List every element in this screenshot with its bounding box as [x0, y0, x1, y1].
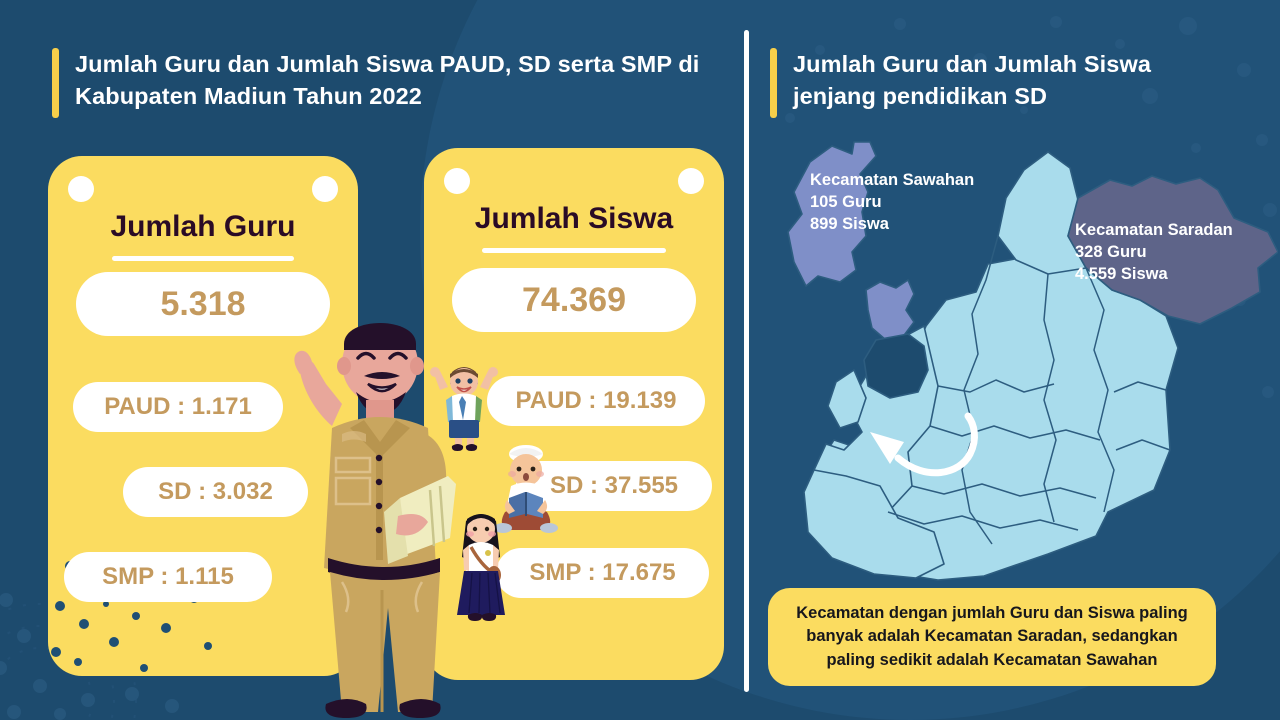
map-caption: Kecamatan dengan jumlah Guru dan Siswa p…	[768, 588, 1216, 686]
card-punch-hole-right	[312, 176, 338, 202]
map-label-saradan: Kecamatan Saradan 328 Guru 4.559 Siswa	[1075, 220, 1233, 286]
card-punch-hole-right	[678, 168, 704, 194]
map-label-saradan-teachers: 328 Guru	[1075, 242, 1233, 264]
card-heading: Jumlah Guru	[48, 210, 358, 244]
card-divider	[112, 256, 294, 261]
title-accent-bar	[770, 48, 777, 118]
paud-student-illustration	[428, 360, 500, 452]
map-region-city-enclave	[864, 334, 928, 398]
title-accent-bar	[52, 48, 59, 118]
smp-student-illustration	[448, 505, 514, 625]
card-punch-hole-left	[444, 168, 470, 194]
map-label-sawahan: Kecamatan Sawahan 105 Guru 899 Siswa	[810, 170, 974, 236]
guru-paud-stat: PAUD : 1.171	[73, 382, 283, 432]
map-region-sawahan-part	[866, 280, 914, 340]
map-label-sawahan-teachers: 105 Guru	[810, 192, 974, 214]
jumlah-siswa-total: 74.369	[452, 268, 696, 332]
map-label-saradan-district: Kecamatan Saradan	[1075, 220, 1233, 242]
infographic-canvas: Jumlah Guru dan Jumlah Siswa PAUD, SD se…	[0, 0, 1280, 720]
map-label-saradan-students: 4.559 Siswa	[1075, 264, 1233, 286]
card-divider	[482, 248, 666, 253]
right-panel-title-text: Jumlah Guru dan Jumlah Siswa jenjang pen…	[793, 48, 1230, 113]
map-label-sawahan-district: Kecamatan Sawahan	[810, 170, 974, 192]
map-label-sawahan-students: 899 Siswa	[810, 214, 974, 236]
left-panel-title: Jumlah Guru dan Jumlah Siswa PAUD, SD se…	[52, 48, 712, 118]
siswa-paud-stat: PAUD : 19.139	[487, 376, 705, 426]
guru-smp-stat: SMP : 1.115	[64, 552, 272, 602]
card-heading: Jumlah Siswa	[424, 202, 724, 236]
left-panel-title-text: Jumlah Guru dan Jumlah Siswa PAUD, SD se…	[75, 48, 712, 113]
map-region-north	[998, 152, 1086, 274]
right-panel-title: Jumlah Guru dan Jumlah Siswa jenjang pen…	[770, 48, 1230, 118]
siswa-smp-stat: SMP : 17.675	[496, 548, 709, 598]
card-punch-hole-left	[68, 176, 94, 202]
